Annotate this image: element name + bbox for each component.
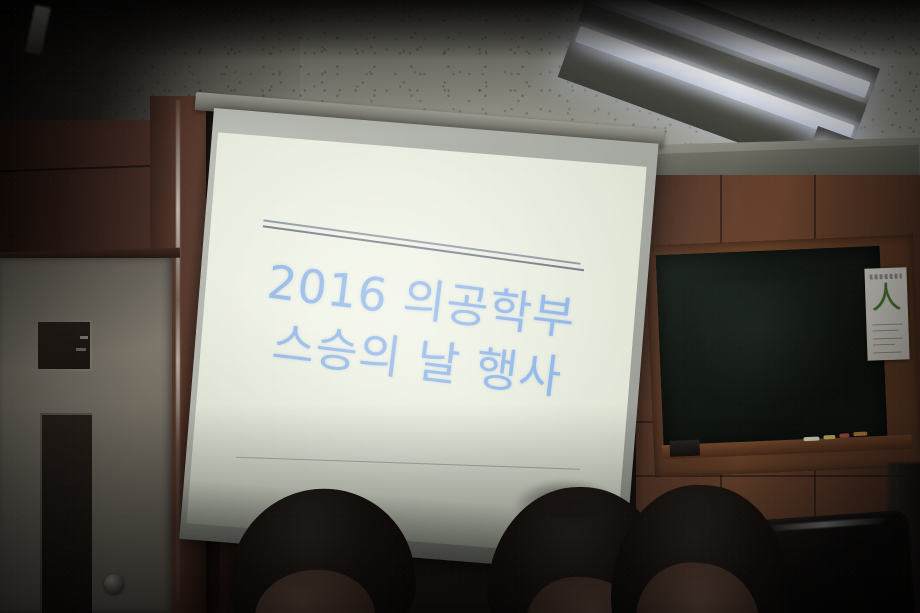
classroom-door[interactable] (0, 258, 172, 613)
ceiling-shadow-top (0, 0, 920, 60)
poster-text-line (873, 352, 901, 354)
bag-sheen (765, 517, 885, 531)
chalk-red (839, 433, 849, 437)
poster-text-line (873, 337, 903, 339)
door-shading (0, 258, 172, 613)
chalk-smudge (697, 277, 852, 413)
person-hair (512, 477, 623, 521)
chalk-white (803, 437, 819, 442)
chalk-yellow (823, 435, 835, 439)
chalkboard-surface (656, 246, 888, 451)
poster-header-text (870, 273, 902, 279)
chalk-orange (853, 432, 867, 437)
poster-text-line (873, 330, 899, 332)
person-face (250, 564, 378, 613)
wall-poster: 人 (864, 267, 909, 360)
photo-scene: 人 2016 의공학부 스승의 날 행사 (0, 0, 920, 613)
person-face (633, 560, 763, 613)
chalkboard-eraser (669, 440, 700, 457)
poster-text-line (873, 344, 895, 346)
poster-character-glyph: 人 (871, 283, 902, 314)
poster-text-line (872, 323, 902, 325)
